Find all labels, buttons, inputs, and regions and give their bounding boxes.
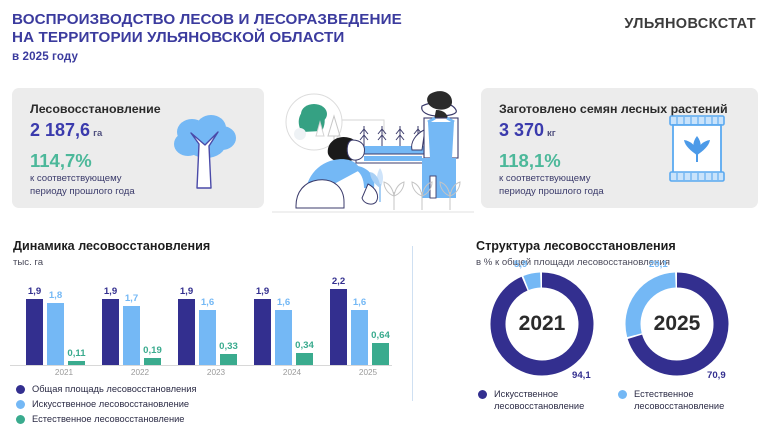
bar-value-label: 1,6 <box>192 297 223 308</box>
kpi-value: 3 370кг <box>499 120 556 141</box>
title-line-1: ВОСПРОИЗВОДСТВО ЛЕСОВ И ЛЕСОРАЗВЕДЕНИЕ <box>12 11 402 29</box>
bar-value-label: 1,6 <box>268 297 299 308</box>
title-line-3: в 2025 году <box>12 50 402 64</box>
bar-value-label: 0,33 <box>213 341 244 352</box>
bar-chart-subtitle: тыс. га <box>13 257 43 268</box>
donut-chart-2025: 202570,929,1 <box>625 272 729 376</box>
legend-color-dot <box>16 415 25 424</box>
bar-2024-series-1 <box>254 299 271 365</box>
bar-tick-2021: 2021 <box>34 368 94 377</box>
kpi-card-reforestation: Лесовосстановление 2 187,6га 114,7% к со… <box>12 88 264 208</box>
donut-chart-subtitle: в % к общей площади лесовосстановления <box>476 257 670 268</box>
bar-value-label: 0,11 <box>61 348 92 359</box>
donut-legend-item-1[interactable]: Искусственное лесовосстановление <box>478 388 584 412</box>
legend-color-dot <box>618 390 627 399</box>
kpi-value: 2 187,6га <box>30 120 102 141</box>
header: ВОСПРОИЗВОДСТВО ЛЕСОВ И ЛЕСОРАЗВЕДЕНИЕ Н… <box>0 0 770 76</box>
legend-color-dot <box>478 390 487 399</box>
bar-2022-series-3 <box>144 358 161 365</box>
donut-charts: 202194,15,9202570,929,1 <box>470 272 766 372</box>
kpi-title: Лесовосстановление <box>30 102 161 116</box>
bar-value-label: 1,9 <box>171 286 202 297</box>
legend-item-2[interactable]: Искусственное лесовосстановление <box>16 397 197 411</box>
donut-chart-2021: 202194,15,9 <box>490 272 594 376</box>
bar-value-label: 1,8 <box>40 290 71 301</box>
donut-legend-item-2[interactable]: Естественное лесовосстановление <box>618 388 724 412</box>
bar-2022-series-1 <box>102 299 119 365</box>
bar-2023-series-1 <box>178 299 195 365</box>
bar-value-label: 2,2 <box>323 276 354 287</box>
bar-2024-series-2 <box>275 310 292 365</box>
page-title: ВОСПРОИЗВОДСТВО ЛЕСОВ И ЛЕСОРАЗВЕДЕНИЕ Н… <box>12 11 402 64</box>
kpi-note-line2: периоду прошлого года <box>30 186 135 197</box>
legend-label: Естественное лесовосстановление <box>32 414 184 424</box>
panel-divider <box>412 246 413 401</box>
legend-item-1[interactable]: Общая площадь лесовосстановления <box>16 382 197 396</box>
bar-2024-series-3 <box>296 353 313 365</box>
kpi-note: к соответствующему периоду прошлого года <box>30 173 135 199</box>
donut-chart-title: Структура лесовосстановления <box>476 239 676 253</box>
legend-item-3[interactable]: Естественное лесовосстановление <box>16 412 197 426</box>
legend-label: Искусственное лесовосстановление <box>494 388 584 412</box>
bar-tick-2023: 2023 <box>186 368 246 377</box>
legend-color-dot <box>16 385 25 394</box>
bar-2023-series-2 <box>199 310 216 365</box>
bar-value-label: 1,7 <box>116 293 147 304</box>
donut-value-label-secondary: 29,1 <box>649 259 668 270</box>
bar-tick-2024: 2024 <box>262 368 322 377</box>
kpi-percent: 114,7% <box>30 150 92 172</box>
kpi-value-number: 3 370 <box>499 120 544 140</box>
bar-value-label: 0,64 <box>365 330 396 341</box>
kpi-value-number: 2 187,6 <box>30 120 90 140</box>
kpi-percent: 118,1% <box>499 150 561 172</box>
bar-value-label: 0,34 <box>289 340 320 351</box>
legend-color-dot <box>16 400 25 409</box>
kpi-value-unit: кг <box>547 128 556 139</box>
legend-label: Искусственное лесовосстановление <box>32 399 189 409</box>
bar-value-label: 1,6 <box>344 297 375 308</box>
kpi-value-unit: га <box>93 128 102 139</box>
bar-2025-series-3 <box>372 343 389 365</box>
bar-chart-title: Динамика лесовосстановления <box>13 239 210 253</box>
bar-value-label: 0,19 <box>137 345 168 356</box>
bar-2023-series-3 <box>220 354 237 365</box>
donut-center-year: 2021 <box>490 272 594 376</box>
legend-label: Естественное лесовосстановление <box>634 388 724 412</box>
donut-value-label-primary: 70,9 <box>707 370 726 381</box>
bar-tick-2022: 2022 <box>110 368 170 377</box>
bar-chart-tick-labels: 20212022202320242025 <box>8 368 398 382</box>
bar-2021-series-1 <box>26 299 43 365</box>
donut-center-year: 2025 <box>625 272 729 376</box>
infographic-page: ВОСПРОИЗВОДСТВО ЛЕСОВ И ЛЕСОРАЗВЕДЕНИЕ Н… <box>0 0 770 430</box>
donut-value-label-primary: 94,1 <box>572 370 591 381</box>
bar-chart: 1,91,80,111,91,70,191,91,60,331,91,60,34… <box>8 270 398 370</box>
title-line-2: НА ТЕРРИТОРИИ УЛЬЯНОВСКОЙ ОБЛАСТИ <box>12 29 402 47</box>
seed-bag-icon <box>662 110 732 188</box>
donut-value-label-secondary: 5,9 <box>514 259 527 270</box>
kpi-card-seeds: Заготовлено семян лесных растений 3 370к… <box>481 88 758 208</box>
kpi-note-line1: к соответствующему <box>499 173 591 184</box>
kpi-note-line2: периоду прошлого года <box>499 186 604 197</box>
tree-icon <box>166 110 242 190</box>
kpi-note-line1: к соответствующему <box>30 173 122 184</box>
bar-tick-2025: 2025 <box>338 368 398 377</box>
kpi-note: к соответствующему периоду прошлого года <box>499 173 604 199</box>
legend-label: Общая площадь лесовосстановления <box>32 384 197 394</box>
brand-logo-text: УЛЬЯНОВСКСТАТ <box>624 16 756 32</box>
bar-value-label: 1,9 <box>247 286 278 297</box>
bar-chart-axis <box>10 365 392 366</box>
bar-chart-legend: Общая площадь лесовосстановленияИскусств… <box>16 382 197 427</box>
people-planting-seedlings-illustration <box>272 84 474 214</box>
